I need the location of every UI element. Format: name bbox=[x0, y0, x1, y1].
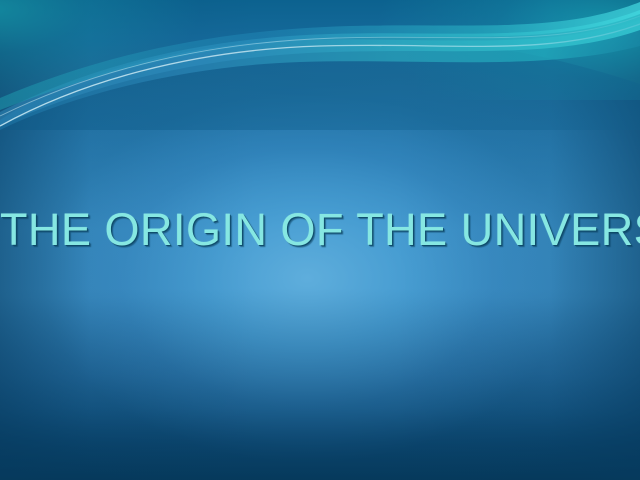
wave-ribbon-decoration bbox=[0, 0, 640, 130]
title-placeholder: THE ORIGIN OF THE UNIVERSE bbox=[0, 206, 640, 253]
presentation-slide: THE ORIGIN OF THE UNIVERSE bbox=[0, 0, 640, 480]
page-title: THE ORIGIN OF THE UNIVERSE bbox=[0, 206, 640, 253]
